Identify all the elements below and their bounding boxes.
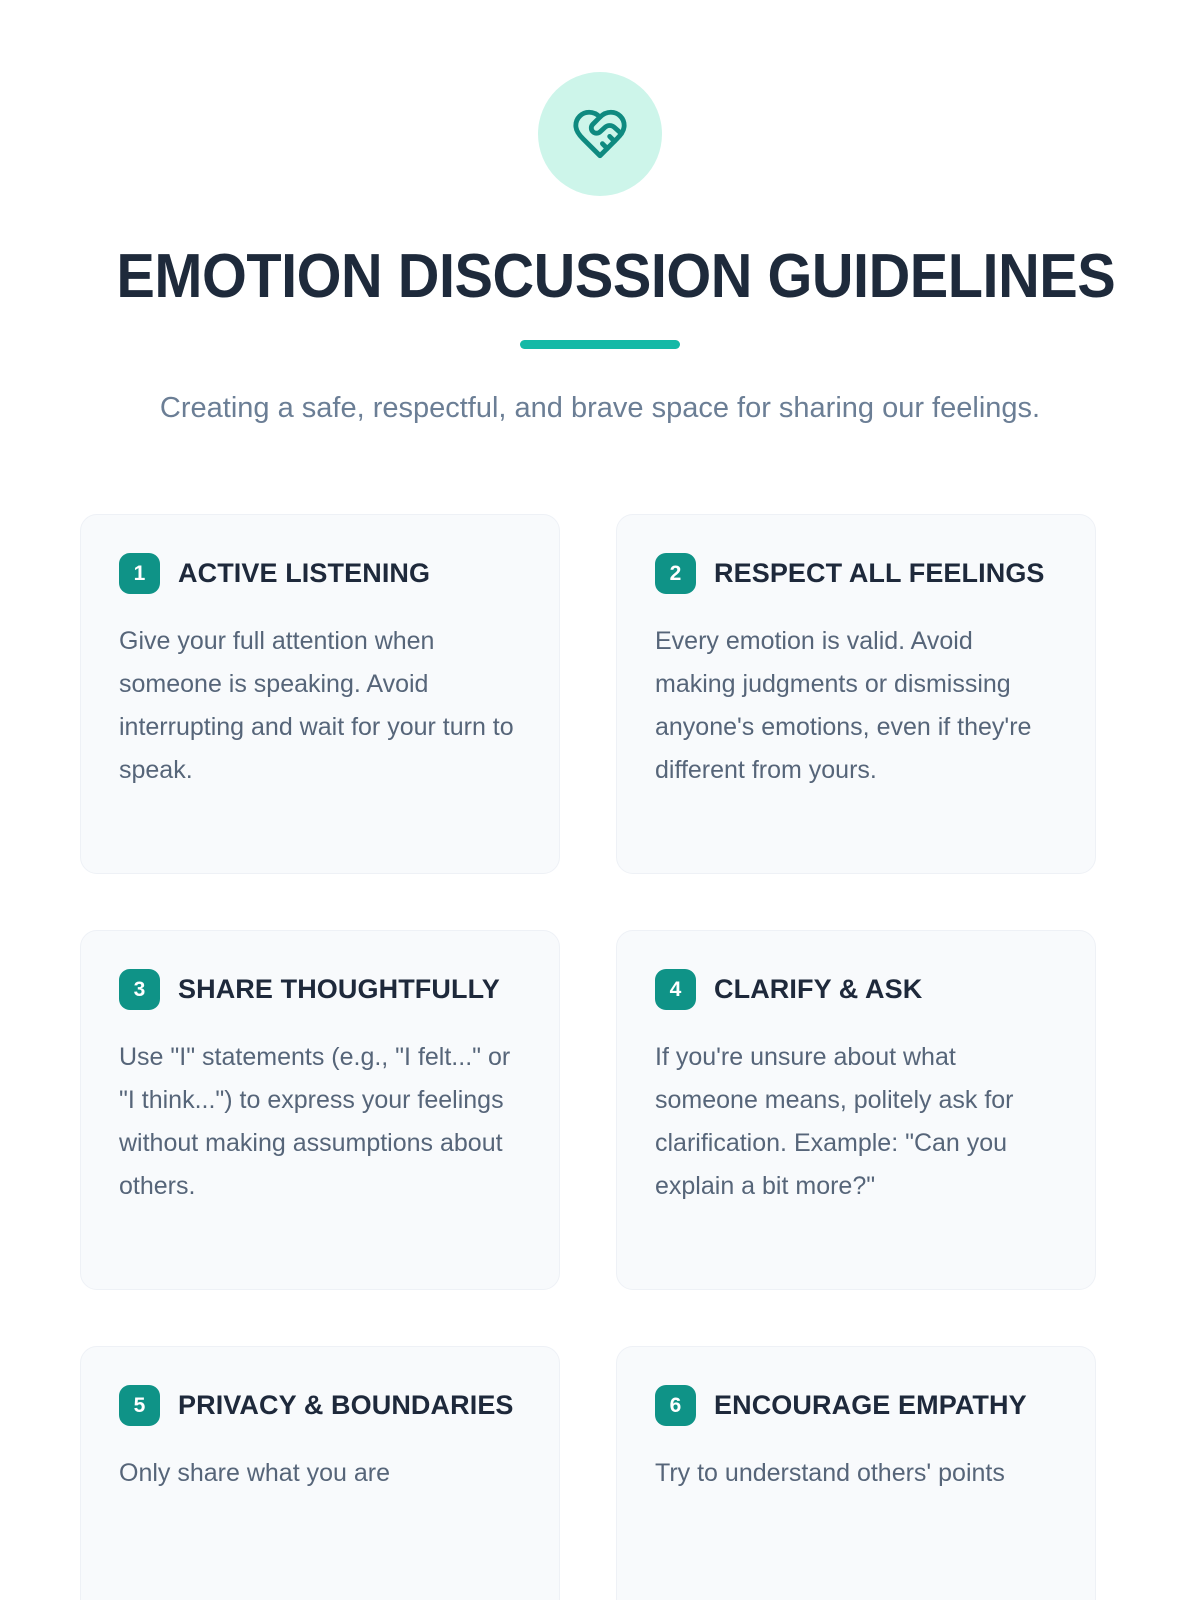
card-header: 2 RESPECT ALL FEELINGS [655,553,1057,594]
guideline-body: Try to understand others' points [655,1452,1057,1495]
guideline-number-badge: 2 [655,553,696,594]
guideline-card: 3 SHARE THOUGHTFULLY Use "I" statements … [80,930,560,1290]
guideline-number-badge: 3 [119,969,160,1010]
card-header: 6 ENCOURAGE EMPATHY [655,1385,1057,1426]
guidelines-grid: 1 ACTIVE LISTENING Give your full attent… [80,514,1120,1600]
guideline-card: 2 RESPECT ALL FEELINGS Every emotion is … [616,514,1096,874]
card-header: 5 PRIVACY & BOUNDARIES [119,1385,521,1426]
page-title: EMOTION DISCUSSION GUIDELINES [116,244,1083,310]
guideline-title: ENCOURAGE EMPATHY [714,1387,1027,1423]
guideline-card: 1 ACTIVE LISTENING Give your full attent… [80,514,560,874]
guideline-title: ACTIVE LISTENING [178,555,430,591]
guideline-number-badge: 6 [655,1385,696,1426]
guideline-title: RESPECT ALL FEELINGS [714,555,1045,591]
guideline-card: 5 PRIVACY & BOUNDARIES Only share what y… [80,1346,560,1600]
title-divider [520,340,680,349]
guidelines-page: EMOTION DISCUSSION GUIDELINES Creating a… [0,0,1200,1600]
guideline-card: 6 ENCOURAGE EMPATHY Try to understand ot… [616,1346,1096,1600]
guideline-card: 4 CLARIFY & ASK If you're unsure about w… [616,930,1096,1290]
guideline-number-badge: 5 [119,1385,160,1426]
guideline-body: Use "I" statements (e.g., "I felt..." or… [119,1036,521,1208]
guideline-title: CLARIFY & ASK [714,971,922,1007]
card-header: 3 SHARE THOUGHTFULLY [119,969,521,1010]
card-header: 4 CLARIFY & ASK [655,969,1057,1010]
page-subtitle: Creating a safe, respectful, and brave s… [130,385,1070,432]
guideline-number-badge: 1 [119,553,160,594]
guideline-title: SHARE THOUGHTFULLY [178,971,500,1007]
heart-handshake-icon [538,72,662,196]
guideline-body: If you're unsure about what someone mean… [655,1036,1057,1208]
guideline-body: Every emotion is valid. Avoid making jud… [655,620,1057,792]
card-header: 1 ACTIVE LISTENING [119,553,521,594]
guideline-body: Give your full attention when someone is… [119,620,521,792]
page-header: EMOTION DISCUSSION GUIDELINES Creating a… [80,72,1120,432]
guideline-body: Only share what you are [119,1452,521,1495]
guideline-number-badge: 4 [655,969,696,1010]
guideline-title: PRIVACY & BOUNDARIES [178,1387,514,1423]
